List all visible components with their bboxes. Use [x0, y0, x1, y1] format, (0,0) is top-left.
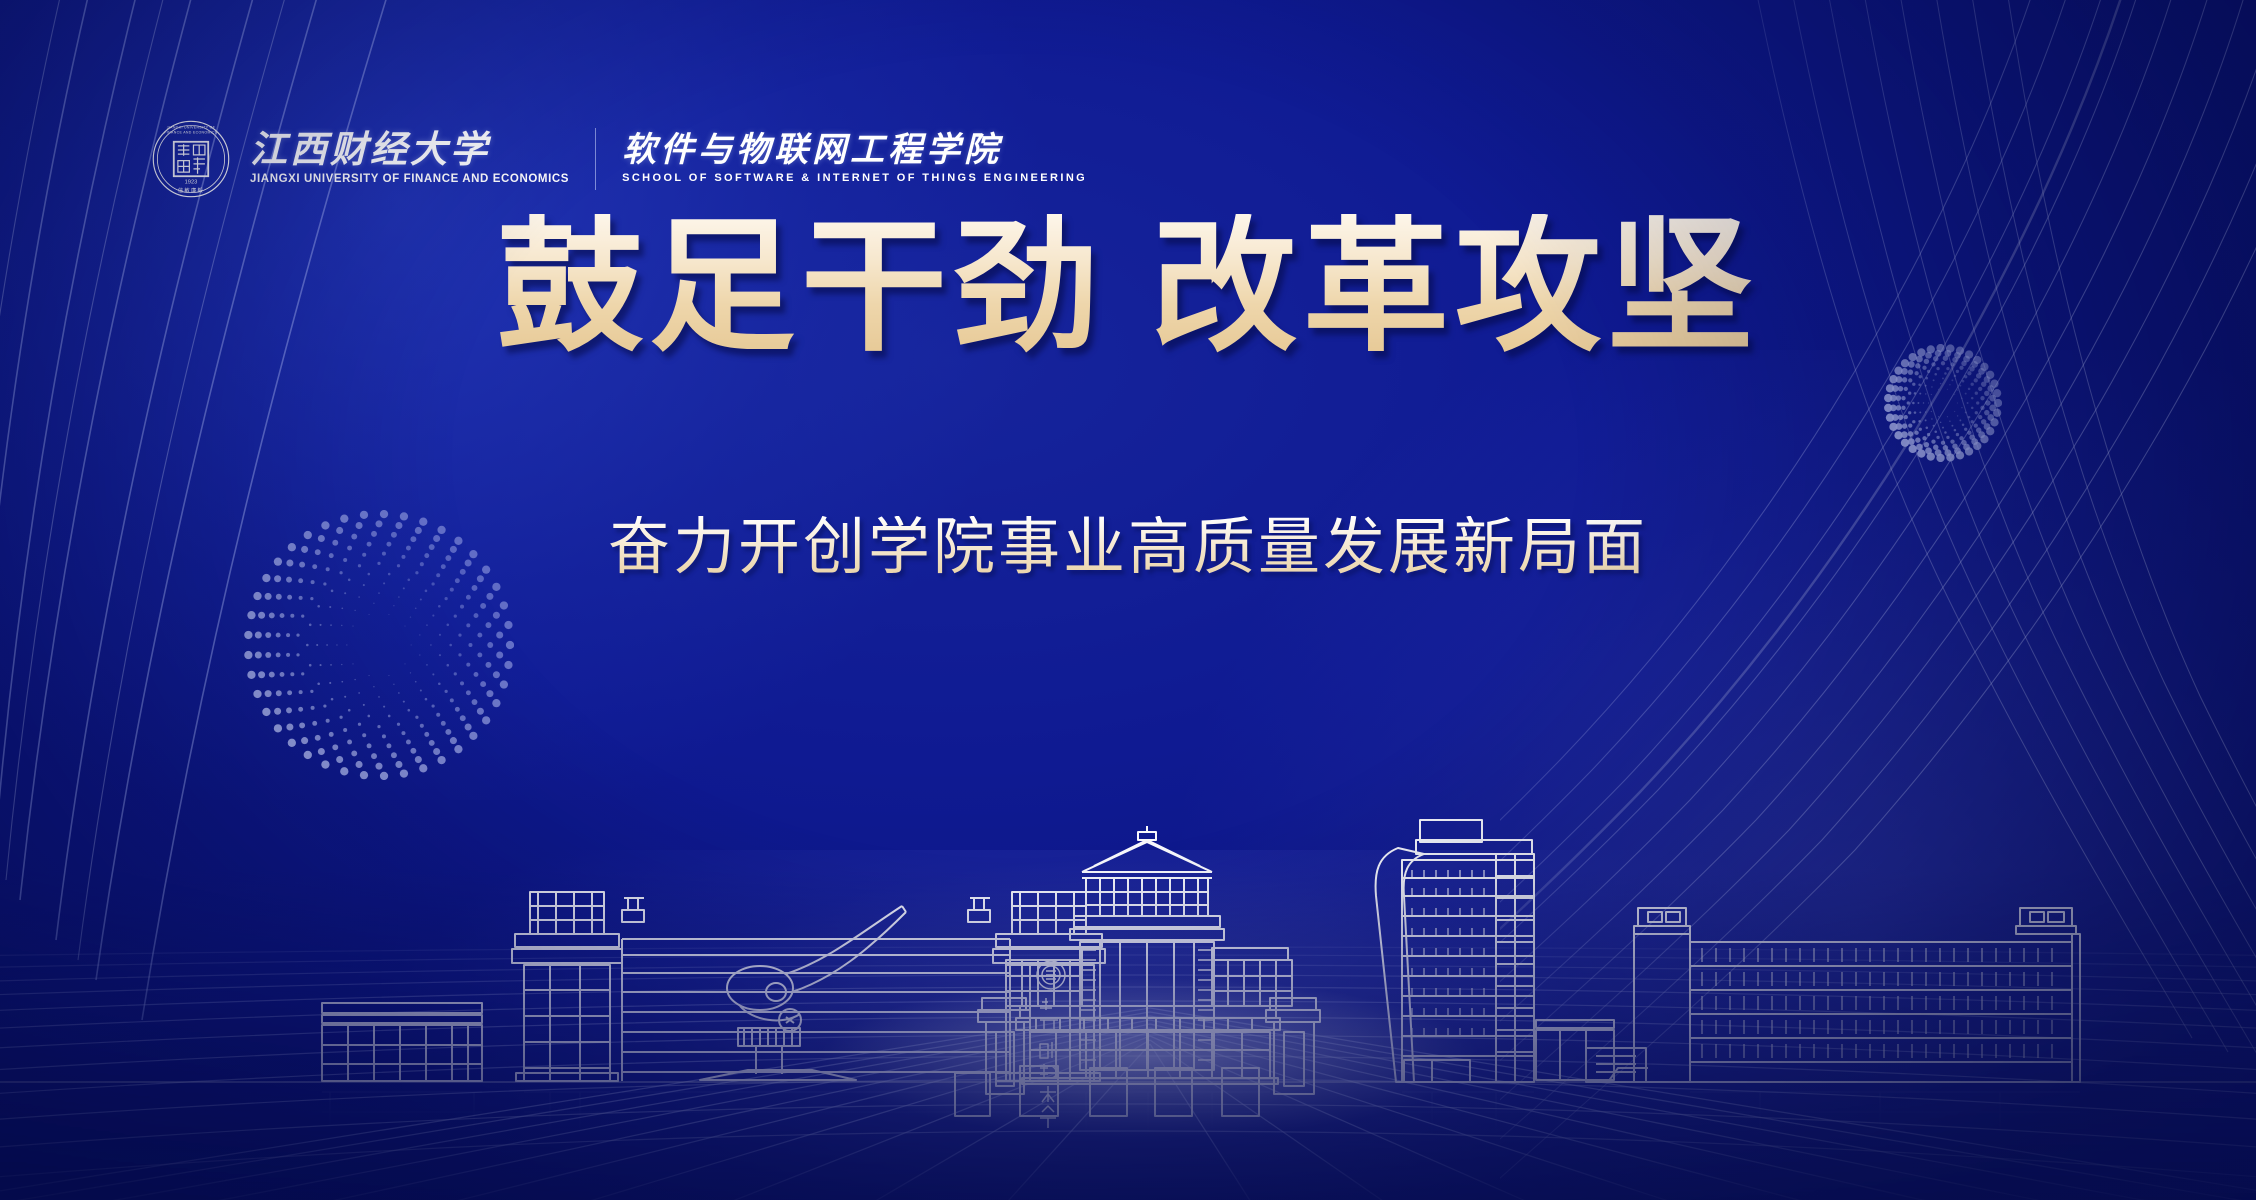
banner-canvas: 1923 JIANGXI UNIVERSITY OF FINANCE AND E…	[0, 0, 2256, 1200]
vignette-overlay	[0, 0, 2256, 1200]
